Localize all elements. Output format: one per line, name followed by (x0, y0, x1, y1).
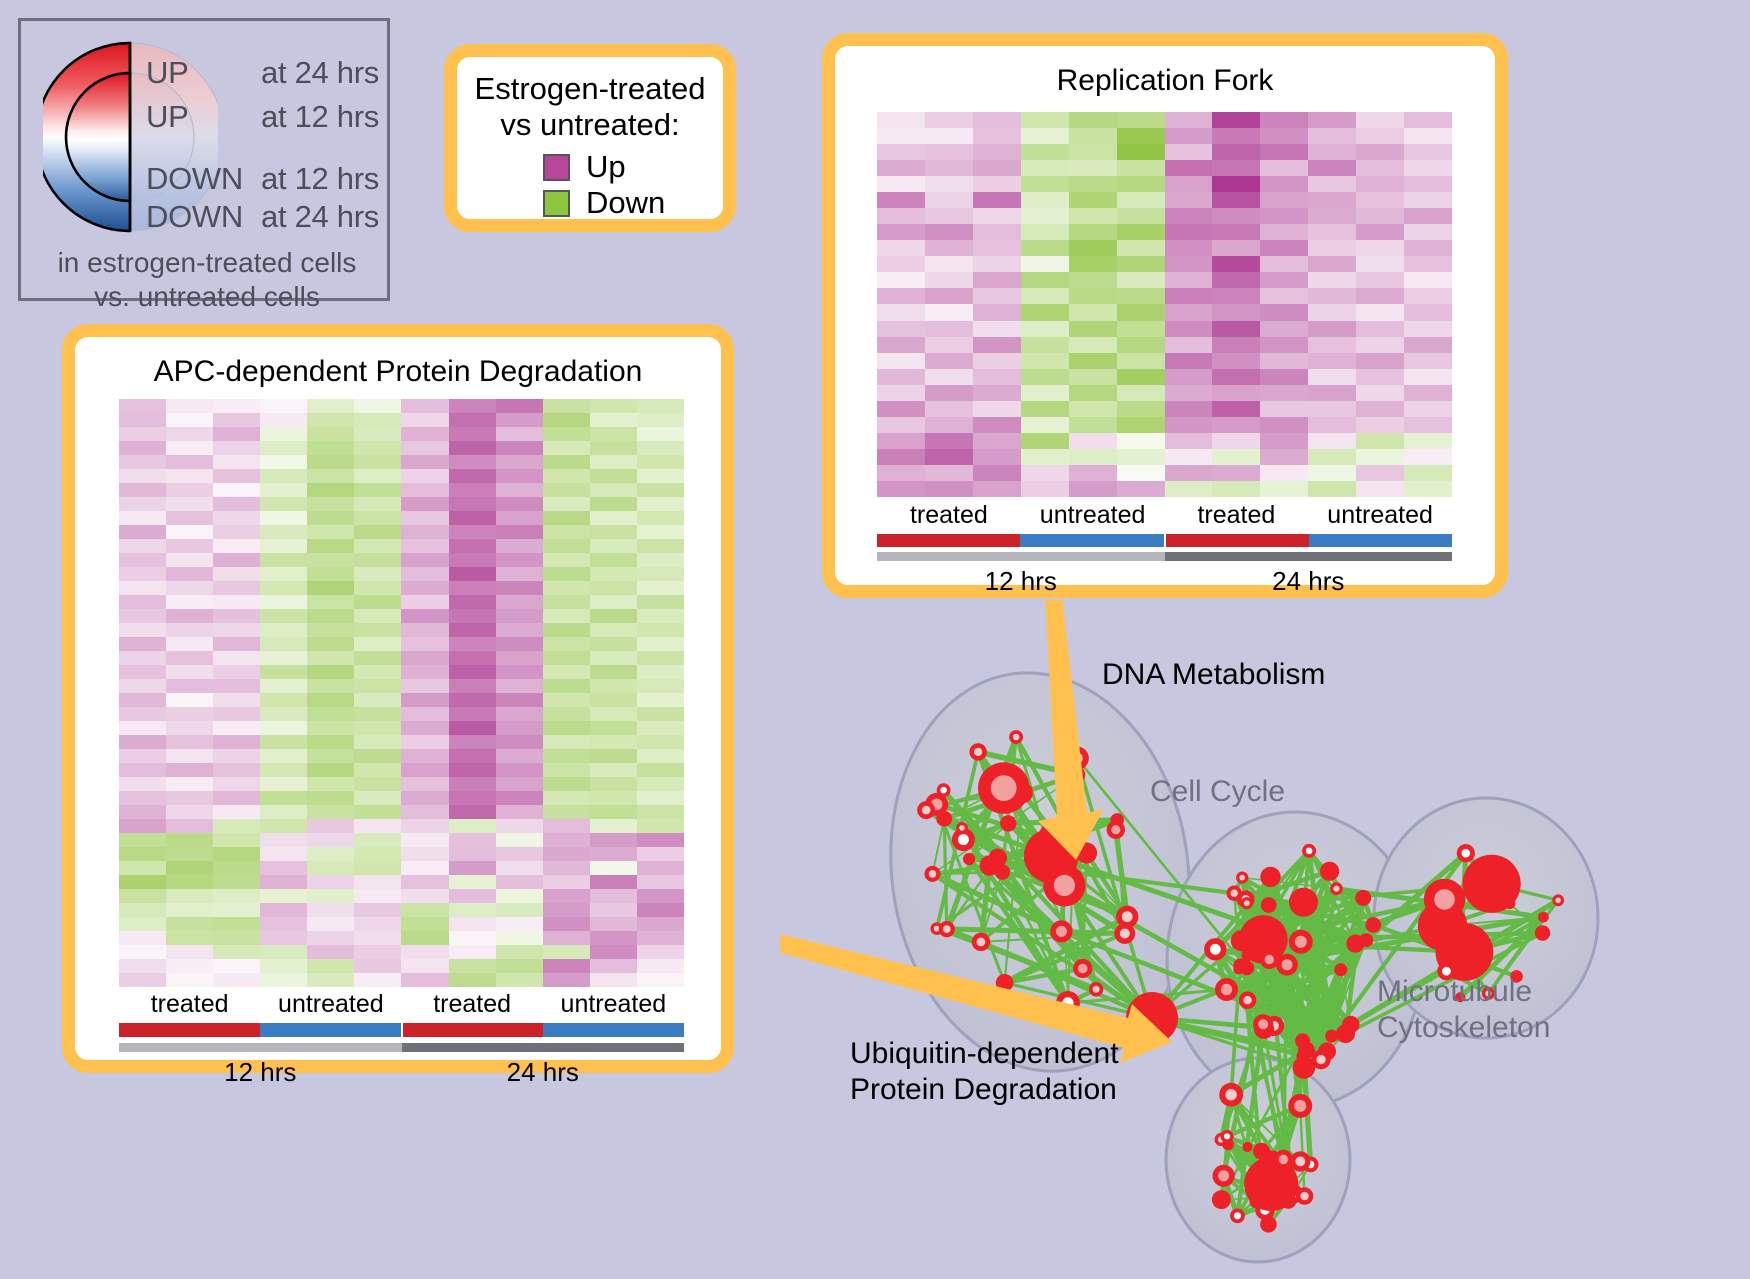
heatmap-cell (401, 693, 448, 707)
heatmap-cell (307, 623, 354, 637)
heatmap-cell (449, 777, 496, 791)
network-node[interactable] (1009, 730, 1023, 744)
heatmap-cell (119, 679, 166, 693)
network-node[interactable] (1050, 920, 1072, 942)
heatmap-cell (1356, 321, 1404, 337)
heatmap-cell (543, 833, 590, 847)
heatmap-cell (213, 413, 260, 427)
network-node[interactable] (1000, 815, 1016, 831)
time-label: 24 hrs (402, 1057, 685, 1088)
heatmap-cell (307, 483, 354, 497)
heatmap-cell (973, 160, 1021, 176)
heatmap-cell (637, 609, 684, 623)
network-node[interactable] (1538, 912, 1549, 923)
heatmap-cell (877, 144, 925, 160)
heatmap-cell (1117, 240, 1165, 256)
network-node[interactable] (1260, 867, 1280, 887)
heatmap-cell (401, 791, 448, 805)
network-node[interactable] (1261, 897, 1277, 913)
heatmap-cell (307, 399, 354, 413)
heatmap-cell (213, 945, 260, 959)
time-label: 12 hrs (119, 1057, 402, 1088)
network-node[interactable] (1535, 925, 1550, 940)
heatmap-cell (401, 945, 448, 959)
heatmap-cell (213, 483, 260, 497)
network-node[interactable] (1302, 844, 1316, 858)
heatmap-cell (401, 903, 448, 917)
heatmap-cell (1212, 449, 1260, 465)
heatmap-cell (496, 553, 543, 567)
heatmap-cell (1404, 433, 1452, 449)
heatmap-cell (637, 721, 684, 735)
network-node[interactable] (1334, 963, 1347, 976)
network-node[interactable] (1213, 1165, 1235, 1187)
heatmap-cell (213, 595, 260, 609)
heatmap-cell (1069, 353, 1117, 369)
heatmap-cell (449, 651, 496, 665)
apc-heatmap (119, 399, 684, 987)
heatmap-cell (877, 353, 925, 369)
heatmap-cell (307, 665, 354, 679)
network-node[interactable] (980, 855, 1000, 875)
heatmap-cell (543, 637, 590, 651)
heatmap-cell (213, 567, 260, 581)
heatmap-cell (543, 469, 590, 483)
heatmap-cell (354, 483, 401, 497)
heatmap-cell (1069, 385, 1117, 401)
heatmap-cell (354, 455, 401, 469)
heatmap-cell (260, 679, 307, 693)
heatmap-cell (973, 288, 1021, 304)
heatmap-cell (119, 959, 166, 973)
heatmap-cell (307, 469, 354, 483)
heatmap-cell (925, 337, 973, 353)
network-node[interactable] (996, 974, 1014, 992)
heatmap-cell (213, 735, 260, 749)
heatmap-cell (260, 917, 307, 931)
heatmap-cell (1069, 465, 1117, 481)
heatmap-cell (496, 917, 543, 931)
network-node[interactable] (1289, 888, 1318, 917)
network-node[interactable] (1107, 821, 1125, 839)
network-node[interactable] (1274, 1150, 1293, 1169)
network-node[interactable] (1241, 897, 1253, 909)
heatmap-cell (637, 595, 684, 609)
network-node[interactable] (956, 822, 968, 834)
time-label: 24 hrs (1165, 566, 1453, 597)
network-node[interactable] (1089, 982, 1103, 996)
heatmap-cell (119, 651, 166, 665)
heatmap-cell (1069, 176, 1117, 192)
heatmap-cell (925, 192, 973, 208)
network-node[interactable] (1457, 844, 1475, 862)
heatmap-cell (925, 401, 973, 417)
heatmap-cell (401, 777, 448, 791)
heatmap-cell (260, 651, 307, 665)
heatmap-cell (925, 272, 973, 288)
network-node[interactable] (1043, 864, 1085, 906)
heatmap-cell (496, 665, 543, 679)
heatmap-cell (260, 497, 307, 511)
heatmap-cell (307, 721, 354, 735)
heatmap-cell (119, 483, 166, 497)
heatmap-cell (543, 861, 590, 875)
heatmap-cell (1356, 192, 1404, 208)
network-node[interactable] (1236, 872, 1248, 884)
network-node[interactable] (1330, 882, 1343, 895)
heatmap-cell (1069, 160, 1117, 176)
heatmap-cell (449, 413, 496, 427)
network-node[interactable] (1204, 938, 1226, 960)
heatmap-cell (401, 497, 448, 511)
network-node[interactable] (1325, 1030, 1338, 1043)
heatmap-cell (166, 609, 213, 623)
heatmap-cell (1356, 272, 1404, 288)
heatmap-cell (590, 679, 637, 693)
network-node[interactable] (1342, 1016, 1359, 1033)
heatmap-cell (119, 833, 166, 847)
heatmap-cell (543, 875, 590, 889)
heatmap-cell (354, 427, 401, 441)
heatmap-cell (449, 749, 496, 763)
heatmap-cell (166, 399, 213, 413)
heatmap-cell (166, 581, 213, 595)
heatmap-cell (877, 288, 925, 304)
heatmap-cell (260, 525, 307, 539)
heatmap-cell (637, 763, 684, 777)
heatmap-cell (166, 889, 213, 903)
network-node[interactable] (1219, 1083, 1243, 1107)
heatmap-cell (1021, 256, 1069, 272)
heatmap-cell (401, 469, 448, 483)
heatmap-cell (1021, 417, 1069, 433)
heatmap-cell (1260, 321, 1308, 337)
heatmap-cell (590, 441, 637, 455)
heatmap-cell (260, 399, 307, 413)
network-node[interactable] (1240, 961, 1255, 976)
heatmap-cell (1356, 288, 1404, 304)
network-node[interactable] (1260, 950, 1279, 969)
replication-fork-time-labels: 12 hrs24 hrs (877, 566, 1452, 597)
heatmap-cell (1212, 256, 1260, 272)
heatmap-cell (119, 399, 166, 413)
heatmap-cell (877, 112, 925, 128)
heatmap-cell (1404, 112, 1452, 128)
heatmap-cell (543, 595, 590, 609)
heatmap-cell (166, 469, 213, 483)
heatmap-cell (354, 721, 401, 735)
heatmap-cell (543, 917, 590, 931)
network-node[interactable] (1281, 1193, 1297, 1209)
heatmap-cell (260, 469, 307, 483)
heatmap-cell (401, 749, 448, 763)
heatmap-cell (877, 192, 925, 208)
heatmap-cell (877, 369, 925, 385)
heatmap-cell (307, 875, 354, 889)
network-node[interactable] (972, 933, 990, 951)
heatmap-cell (496, 931, 543, 945)
heatmap-cell (590, 427, 637, 441)
heatmap-cell (637, 483, 684, 497)
heatmap-cell (307, 791, 354, 805)
heatmap-cell (637, 441, 684, 455)
heatmap-cell (637, 679, 684, 693)
network-node[interactable] (1424, 879, 1465, 920)
heatmap-cell (354, 497, 401, 511)
network-node[interactable] (1230, 1208, 1245, 1223)
heatmap-cell (1069, 192, 1117, 208)
network-node[interactable] (978, 762, 1029, 813)
heatmap-cell (1021, 288, 1069, 304)
network-node[interactable] (1069, 767, 1085, 783)
network-svg (780, 600, 1750, 1279)
heatmap-cell (973, 112, 1021, 128)
heatmap-cell (543, 679, 590, 693)
heatmap-cell (637, 581, 684, 595)
heatmap-cell (401, 623, 448, 637)
heatmap-cell (401, 441, 448, 455)
heatmap-cell (543, 413, 590, 427)
heatmap-cell (496, 595, 543, 609)
network-node[interactable] (1289, 930, 1313, 954)
heatmap-cell (590, 931, 637, 945)
heatmap-cell (1021, 144, 1069, 160)
network-node[interactable] (1215, 978, 1238, 1001)
network-node[interactable] (1288, 1094, 1312, 1118)
heatmap-cell (1021, 385, 1069, 401)
heatmap-cell (637, 903, 684, 917)
heatmap-cell (213, 511, 260, 525)
heatmap-cell (307, 553, 354, 567)
heatmap-cell (590, 917, 637, 931)
heatmap-cell (1021, 240, 1069, 256)
network-node[interactable] (1253, 1014, 1273, 1034)
heatmap-cell (449, 861, 496, 875)
heatmap-cell (590, 525, 637, 539)
network-node[interactable] (1366, 917, 1382, 933)
network-node[interactable] (1056, 991, 1080, 1015)
network-node[interactable] (1293, 1056, 1316, 1079)
heatmap-cell (877, 160, 925, 176)
heatmap-cell (354, 735, 401, 749)
heatmap-cell (1069, 321, 1117, 337)
heatmap-cell (213, 847, 260, 861)
heatmap-cell (1212, 176, 1260, 192)
network-node[interactable] (1242, 1142, 1252, 1152)
network-node[interactable] (1355, 890, 1371, 906)
heatmap-cell (1165, 288, 1213, 304)
network-node[interactable] (1239, 992, 1256, 1009)
heatmap-cell (1212, 224, 1260, 240)
heatmap-cell (543, 511, 590, 525)
heatmap-cell (1308, 224, 1356, 240)
heatmap-cell (1165, 176, 1213, 192)
heatmap-cell (1356, 401, 1404, 417)
heatmap-cell (449, 791, 496, 805)
heatmap-cell (213, 693, 260, 707)
heatmap-cell (213, 861, 260, 875)
heatmap-cell (307, 735, 354, 749)
heatmap-cell (543, 973, 590, 987)
heatmap-cell (307, 945, 354, 959)
legend-caption: in estrogen-treated cells vs. untreated … (21, 246, 393, 314)
heatmap-cell (213, 581, 260, 595)
network-node[interactable] (963, 853, 975, 865)
heatmap-cell (637, 399, 684, 413)
heatmap-cell (260, 945, 307, 959)
heatmap-cell (449, 945, 496, 959)
network-node[interactable] (1552, 894, 1564, 906)
heatmap-cell (119, 637, 166, 651)
network-node[interactable] (1260, 1216, 1277, 1233)
treatment-bar-segment (543, 1023, 684, 1037)
heatmap-cell (119, 525, 166, 539)
heatmap-cell (307, 861, 354, 875)
heatmap-cell (496, 735, 543, 749)
heatmap-cell (496, 525, 543, 539)
heatmap-cell (307, 525, 354, 539)
heatmap-cell (590, 735, 637, 749)
heatmap-cell (496, 609, 543, 623)
heatmap-cell (1069, 449, 1117, 465)
heatmap-cell (401, 595, 448, 609)
network-node[interactable] (1221, 1130, 1234, 1143)
network-node[interactable] (969, 743, 986, 760)
heatmap-cell (1069, 256, 1117, 272)
heatmap-cell (543, 623, 590, 637)
heatmap-cell (496, 945, 543, 959)
heatmap-cell (354, 665, 401, 679)
heatmap-cell (543, 553, 590, 567)
network-node[interactable] (1359, 933, 1373, 947)
heatmap-cell (307, 889, 354, 903)
heatmap-cell (1212, 353, 1260, 369)
heatmap-cell (401, 763, 448, 777)
heatmap-cell (1021, 401, 1069, 417)
heatmap-cell (1356, 160, 1404, 176)
network-node[interactable] (917, 801, 935, 819)
heatmap-cell (1212, 369, 1260, 385)
heatmap-cell (449, 763, 496, 777)
heatmap-cell (401, 847, 448, 861)
heatmap-cell (1117, 385, 1165, 401)
heatmap-cell (307, 693, 354, 707)
heatmap-cell (496, 497, 543, 511)
network-node[interactable] (1463, 855, 1521, 913)
heatmap-cell (1212, 144, 1260, 160)
network-node[interactable] (1212, 1190, 1231, 1209)
network-node[interactable] (937, 783, 951, 797)
heatmap-cell (1117, 321, 1165, 337)
heatmap-cell (401, 861, 448, 875)
network-node[interactable] (1065, 747, 1089, 771)
network-node[interactable] (936, 811, 952, 827)
heatmap-cell (166, 847, 213, 861)
heatmap-cell (1260, 192, 1308, 208)
estrogen-title-line1: Estrogen-treated (457, 71, 723, 107)
network-node[interactable] (925, 866, 941, 882)
heatmap-cell (354, 707, 401, 721)
heatmap-cell (449, 427, 496, 441)
heatmap-cell (260, 875, 307, 889)
network-node[interactable] (1242, 949, 1255, 962)
heatmap-cell (354, 595, 401, 609)
heatmap-cell (1117, 208, 1165, 224)
heatmap-cell (260, 805, 307, 819)
heatmap-cell (637, 427, 684, 441)
heatmap-cell (354, 805, 401, 819)
heatmap-cell (1212, 401, 1260, 417)
heatmap-cell (1308, 208, 1356, 224)
heatmap-cell (496, 539, 543, 553)
heatmap-cell (401, 735, 448, 749)
network-node[interactable] (1076, 842, 1097, 863)
heatmap-cell (590, 539, 637, 553)
heatmap-cell (449, 595, 496, 609)
heatmap-cell (590, 469, 637, 483)
network-node[interactable] (1320, 862, 1339, 881)
heatmap-cell (119, 903, 166, 917)
heatmap-cell (1308, 304, 1356, 320)
heatmap-cell (973, 240, 1021, 256)
heatmap-cell (260, 511, 307, 525)
heatmap-cell (496, 875, 543, 889)
heatmap-cell (1260, 353, 1308, 369)
heatmap-cell (1308, 176, 1356, 192)
heatmap-cell (1356, 417, 1404, 433)
heatmap-cell (1069, 369, 1117, 385)
network-node[interactable] (1073, 959, 1092, 978)
heatmap-cell (449, 959, 496, 973)
heatmap-cell (449, 847, 496, 861)
heatmap-cell (1404, 144, 1452, 160)
heatmap-cell (496, 427, 543, 441)
heatmap-cell (590, 875, 637, 889)
heatmap-cell (307, 427, 354, 441)
heatmap-cell (637, 945, 684, 959)
legend-time-1: at 12 hrs (261, 99, 379, 134)
heatmap-cell (973, 337, 1021, 353)
heatmap-cell (496, 413, 543, 427)
heatmap-cell (166, 483, 213, 497)
heatmap-cell (1356, 369, 1404, 385)
heatmap-cell (543, 945, 590, 959)
heatmap-cell (260, 959, 307, 973)
heatmap-cell (1212, 272, 1260, 288)
heatmap-cell (1165, 160, 1213, 176)
up-color-swatch (543, 154, 570, 181)
heatmap-cell (1260, 401, 1308, 417)
heatmap-cell (637, 973, 684, 987)
heatmap-cell (1260, 304, 1308, 320)
heatmap-cell (590, 623, 637, 637)
heatmap-cell (1404, 208, 1452, 224)
heatmap-cell (119, 861, 166, 875)
heatmap-cell (1021, 353, 1069, 369)
heatmap-cell (925, 433, 973, 449)
network-node[interactable] (1126, 992, 1178, 1044)
network-node[interactable] (1114, 923, 1135, 944)
legend-state-1: UP (146, 99, 261, 135)
network-node[interactable] (939, 921, 955, 937)
heatmap-cell (543, 721, 590, 735)
heatmap-cell (590, 791, 637, 805)
heatmap-cell (1404, 417, 1452, 433)
network-node[interactable] (1296, 1187, 1313, 1204)
heatmap-cell (260, 861, 307, 875)
heatmap-cell (1021, 112, 1069, 128)
heatmap-cell (213, 777, 260, 791)
